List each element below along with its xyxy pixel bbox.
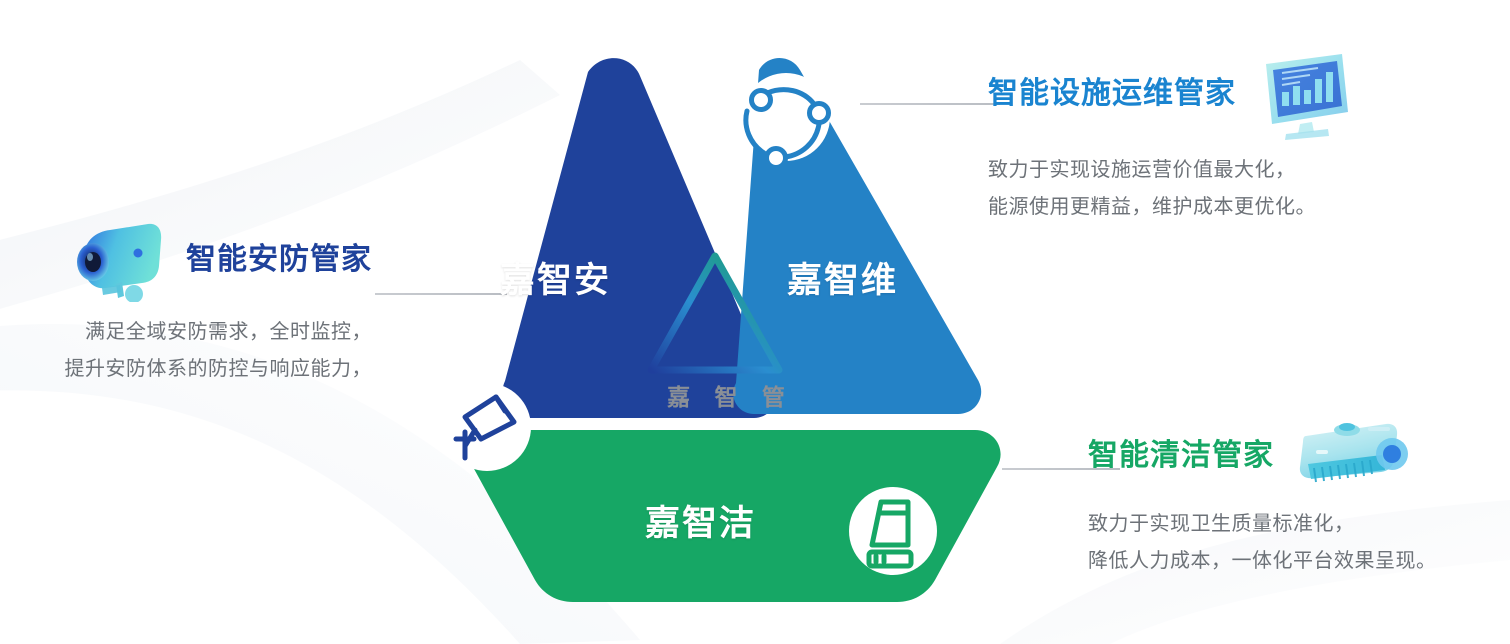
- info-block-security: 智能安防管家 满足全域安防需求，全时监控， 提升安防体系的防控与响应能力，: [0, 218, 372, 388]
- infographic-canvas: 嘉智安 嘉智维 嘉智洁 嘉 智 管 智能设施运维管家: [0, 0, 1510, 644]
- info-desc-maintenance: 致力于实现设施运营价值最大化， 能源使用更精益，维护成本更优化。: [988, 152, 1356, 226]
- info-desc-cleaning: 致力于实现卫生质量标准化， 降低人力成本，一体化平台效果呈现。: [1088, 506, 1437, 580]
- segment-security[interactable]: [502, 58, 774, 418]
- monitor-chart-icon: [1252, 48, 1356, 140]
- desc-line: 降低人力成本，一体化平台效果呈现。: [1088, 543, 1437, 580]
- badge-cctv-camera-icon[interactable]: [443, 383, 531, 471]
- info-title-security: 智能安防管家: [186, 243, 372, 278]
- info-head-cleaning: 智能清洁管家: [1088, 418, 1437, 494]
- desc-line: 能源使用更精益，维护成本更优化。: [988, 189, 1356, 226]
- core-brand-label: 嘉 智 管: [636, 378, 816, 412]
- desc-line: 致力于实现卫生质量标准化，: [1088, 506, 1437, 543]
- badge-floor-scrubber-icon[interactable]: [849, 487, 937, 575]
- segment-label-security: 嘉智安: [500, 252, 611, 303]
- desc-line: 致力于实现设施运营价值最大化，: [988, 152, 1356, 189]
- info-desc-security: 满足全域安防需求，全时监控， 提升安防体系的防控与响应能力，: [0, 314, 372, 388]
- info-block-maintenance: 智能设施运维管家: [988, 48, 1356, 226]
- info-head-maintenance: 智能设施运维管家: [988, 48, 1356, 140]
- info-title-maintenance: 智能设施运维管家: [988, 77, 1236, 112]
- cleaning-robot-icon: [1290, 418, 1410, 494]
- security-camera-icon: [62, 218, 172, 302]
- connector-line-security: [375, 293, 507, 295]
- info-title-cleaning: 智能清洁管家: [1088, 439, 1274, 474]
- segment-label-maintenance: 嘉智维: [787, 252, 898, 303]
- desc-line: 提升安防体系的防控与响应能力，: [0, 351, 372, 388]
- info-block-cleaning: 智能清洁管家: [1088, 418, 1437, 580]
- desc-line: 满足全域安防需求，全时监控，: [0, 314, 372, 351]
- segment-label-cleaning: 嘉智洁: [645, 495, 756, 546]
- info-head-security: 智能安防管家: [0, 218, 372, 302]
- connector-line-maintenance: [860, 103, 1000, 105]
